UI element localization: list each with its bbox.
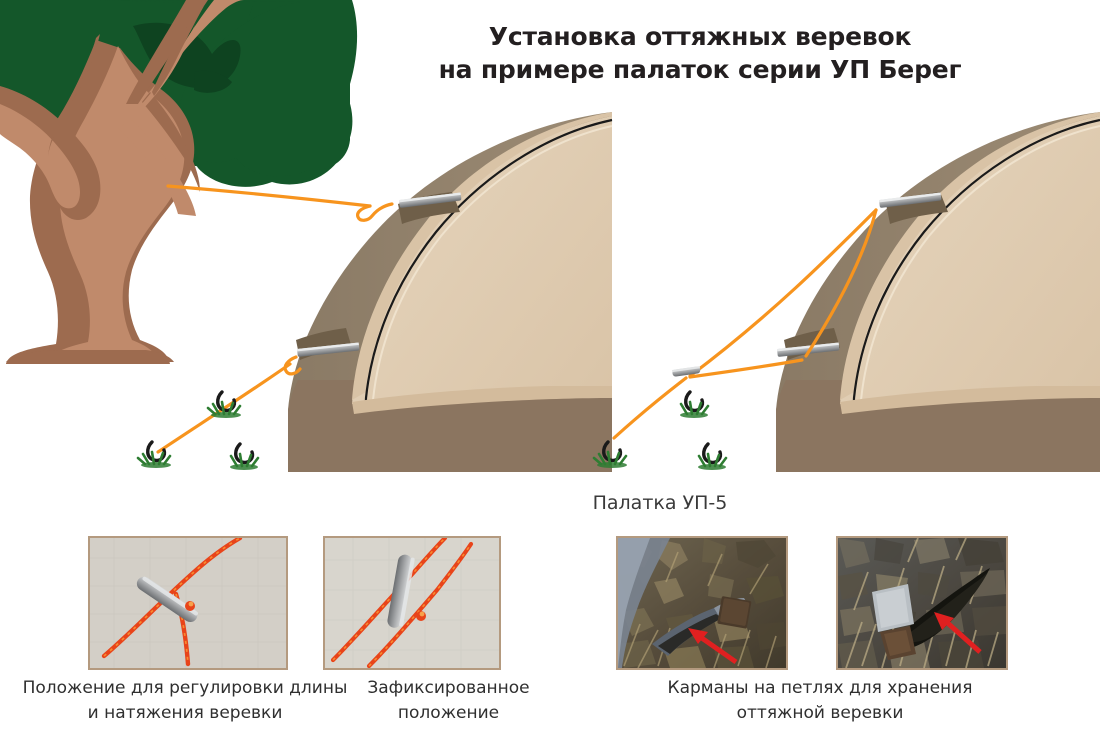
- caption-adjust: Положение для регулировки длины и натяже…: [20, 676, 350, 726]
- tensioner-locked-photo: [323, 536, 501, 670]
- tensioner-loose-photo: [88, 536, 288, 670]
- tent-peg-icon-5: [698, 444, 726, 470]
- page-title: Установка оттяжных веревок на примере па…: [430, 20, 970, 86]
- tent-peg-icon-2: [230, 444, 258, 470]
- guy-line-tree-to-loop: [168, 186, 370, 206]
- tent-icon-right: [776, 112, 1100, 472]
- infographic-root: Установка оттяжных веревок на примере па…: [0, 0, 1100, 733]
- tree-icon: [0, 0, 357, 364]
- photo-2-content: [325, 538, 499, 668]
- photo-4-content: [838, 538, 1006, 668]
- tent-peg-icon-1: [208, 392, 241, 418]
- tent-peg-icon-4: [680, 392, 708, 418]
- guy-line-tensioner-to-peg: [614, 378, 686, 438]
- tent-icon-left: [288, 112, 612, 472]
- caption-pockets: Карманы на петлях для хранения оттяжной …: [650, 676, 990, 726]
- caption-fixed: Зафиксированное положение: [326, 676, 571, 726]
- peg-group-right: [594, 392, 726, 470]
- title-line-2: на примере палаток серии УП Берег: [430, 53, 970, 86]
- tent-model-caption: Палатка УП-5: [520, 492, 800, 514]
- peg-group-left: [138, 392, 258, 470]
- pocket-label-photo: [836, 536, 1008, 670]
- photo-1-content: [90, 538, 286, 668]
- title-line-1: Установка оттяжных веревок: [489, 22, 911, 51]
- photo-3-content: [618, 538, 786, 668]
- pocket-open-photo: [616, 536, 788, 670]
